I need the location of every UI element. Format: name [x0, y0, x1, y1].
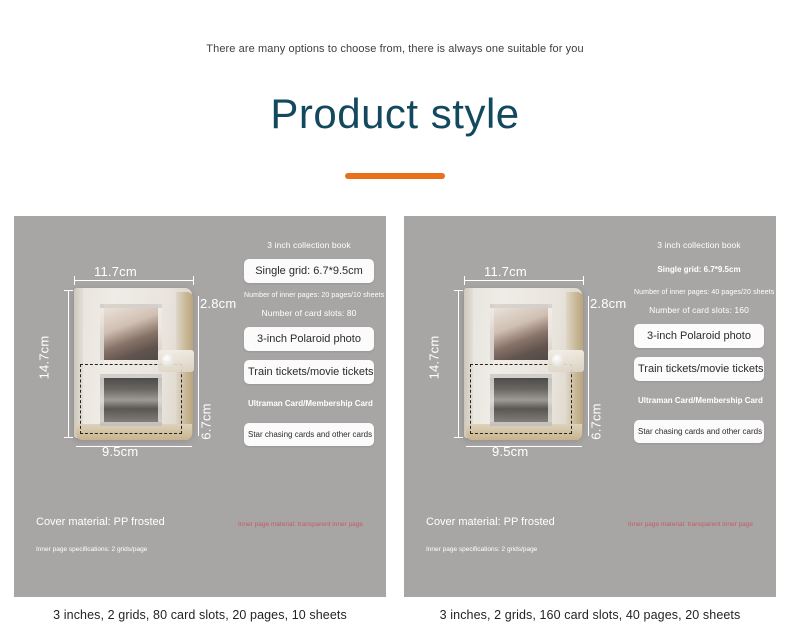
dimension-line-top [464, 280, 584, 281]
dimension-label-height: 14.7cm [426, 336, 441, 380]
album-photo-bottom [100, 374, 162, 426]
note-cover-material: Cover material: PP frosted [426, 516, 555, 528]
dimension-label-depth: 2.8cm [590, 296, 626, 311]
spec-ultraman-membership-card[interactable]: Ultraman Card/Membership Card [244, 393, 374, 414]
dimension-line-left [68, 290, 69, 438]
album-photo-bottom [490, 374, 552, 426]
dimension-tick-top-right [583, 276, 584, 285]
accent-divider [345, 173, 445, 179]
dimension-tick-top-left [464, 276, 465, 285]
caption-right: 3 inches, 2 grids, 160 card slots, 40 pa… [404, 608, 776, 622]
dimension-tick-left-top [64, 290, 73, 291]
spec-star-chasing-cards[interactable]: Star chasing cards and other cards [244, 423, 374, 446]
dimension-label-width: 11.7cm [94, 264, 137, 279]
dimension-label-height: 14.7cm [36, 336, 51, 380]
page-title: Product style [0, 90, 790, 138]
dimension-line-top [74, 280, 194, 281]
spec-card-slots: Number of card slots: 160 [634, 305, 764, 315]
spec-collection-book: 3 inch collection book [634, 240, 764, 250]
spec-train-movie-tickets[interactable]: Train tickets/movie tickets [244, 360, 374, 384]
spec-list-right: 3 inch collection book Single grid: 6.7*… [634, 240, 764, 452]
note-inner-page-material: Inner page material: transparent inner p… [238, 521, 363, 528]
album-illustration-left: 11.7cm 2.8cm 14.7cm 6.7cm 9.5cm [32, 246, 252, 476]
spec-single-grid[interactable]: Single grid: 6.7*9.5cm [634, 259, 764, 280]
dimension-tick-left-top [454, 290, 463, 291]
caption-left: 3 inches, 2 grids, 80 card slots, 20 pag… [14, 608, 386, 622]
spec-inner-pages: Number of inner pages: 40 pages/20 sheet… [634, 289, 764, 296]
product-panels: 11.7cm 2.8cm 14.7cm 6.7cm 9.5cm 3 inch c… [14, 216, 776, 597]
dimension-tick-top-left [74, 276, 75, 285]
dimension-label-depth-bottom: 9.5cm [492, 444, 528, 459]
spec-polaroid-photo[interactable]: 3-inch Polaroid photo [244, 327, 374, 351]
dimension-tick-top-right [193, 276, 194, 285]
spec-star-chasing-cards[interactable]: Star chasing cards and other cards [634, 420, 764, 443]
album-photo-top [490, 304, 552, 364]
spec-card-slots: Number of card slots: 80 [244, 308, 374, 318]
album-clasp-dot [552, 354, 565, 367]
spec-collection-book: 3 inch collection book [244, 240, 374, 250]
note-inner-page-specifications: Inner page specifications: 2 grids/page [36, 546, 147, 553]
spec-train-movie-tickets[interactable]: Train tickets/movie tickets [634, 357, 764, 381]
product-panel-right[interactable]: 11.7cm 2.8cm 14.7cm 6.7cm 9.5cm 3 inch c… [404, 216, 776, 597]
dimension-label-width: 11.7cm [484, 264, 527, 279]
spec-inner-pages: Number of inner pages: 20 pages/10 sheet… [244, 292, 374, 299]
dimension-label-grid-height: 6.7cm [199, 403, 214, 439]
dimension-label-depth: 2.8cm [200, 296, 236, 311]
note-inner-page-material: Inner page material: transparent inner p… [628, 521, 753, 528]
dimension-tick-left-bottom [64, 437, 73, 438]
spec-single-grid[interactable]: Single grid: 6.7*9.5cm [244, 259, 374, 283]
subtitle-text: There are many options to choose from, t… [0, 43, 790, 55]
album-photo-top [100, 304, 162, 364]
dimension-line-left [458, 290, 459, 438]
spec-polaroid-photo[interactable]: 3-inch Polaroid photo [634, 324, 764, 348]
note-inner-page-specifications: Inner page specifications: 2 grids/page [426, 546, 537, 553]
product-panel-left[interactable]: 11.7cm 2.8cm 14.7cm 6.7cm 9.5cm 3 inch c… [14, 216, 386, 597]
spec-ultraman-membership-card[interactable]: Ultraman Card/Membership Card [634, 390, 764, 411]
spec-list-left: 3 inch collection book Single grid: 6.7*… [244, 240, 374, 455]
dimension-tick-left-bottom [454, 437, 463, 438]
album-clasp-dot [162, 354, 175, 367]
album-illustration-right: 11.7cm 2.8cm 14.7cm 6.7cm 9.5cm [422, 246, 642, 476]
note-cover-material: Cover material: PP frosted [36, 516, 165, 528]
dimension-label-depth-bottom: 9.5cm [102, 444, 138, 459]
panel-captions: 3 inches, 2 grids, 80 card slots, 20 pag… [14, 608, 776, 622]
dimension-label-grid-height: 6.7cm [589, 403, 604, 439]
